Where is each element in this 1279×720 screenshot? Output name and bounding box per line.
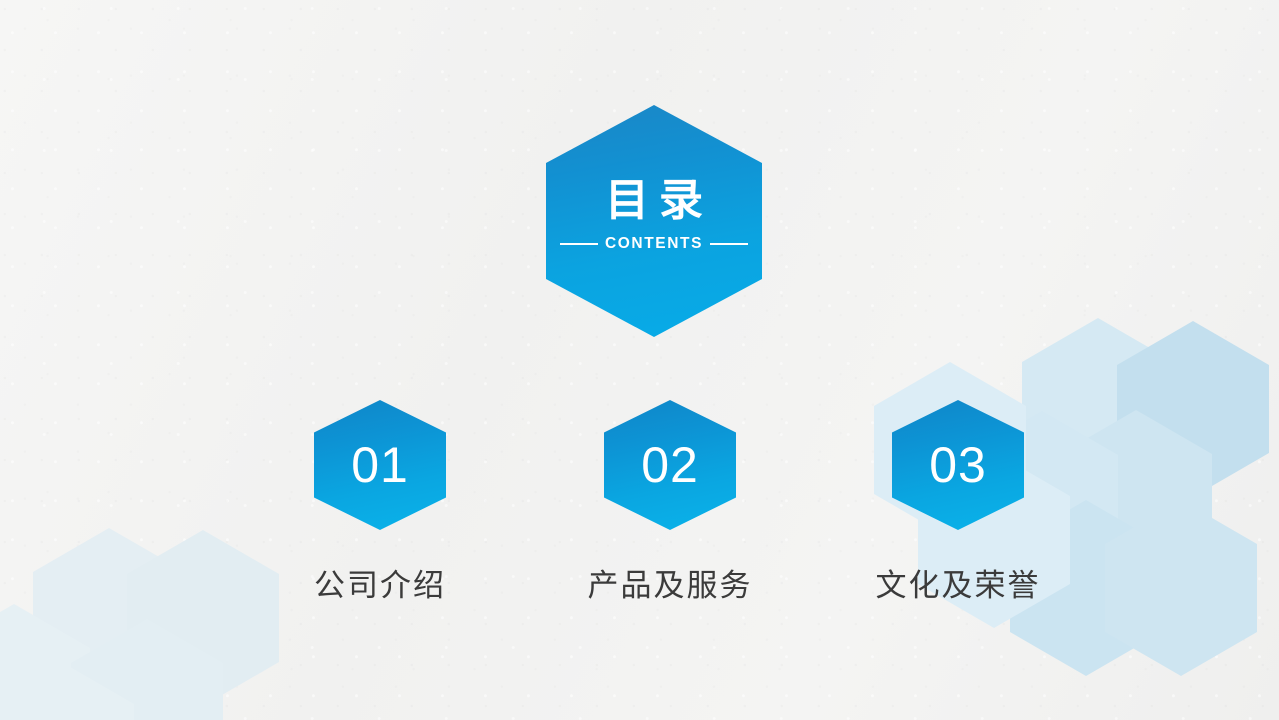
agenda-item-hexagon-01[interactable]: 01 — [314, 400, 446, 530]
page-subtitle: CONTENTS — [605, 235, 703, 253]
agenda-item-number-03: 03 — [929, 440, 987, 490]
contents-hexagon-inner: 目录 CONTENTS — [560, 177, 748, 254]
agenda-item-label-01[interactable]: 公司介绍 — [230, 560, 530, 605]
rule-right-icon — [710, 243, 748, 245]
agenda-item-hexagon-02[interactable]: 02 — [604, 400, 736, 530]
contents-hexagon[interactable]: 目录 CONTENTS — [546, 105, 762, 337]
slide-canvas: 目录 CONTENTS 01 公司介绍 02 产品及服务 03 文化及荣誉 — [0, 0, 1279, 720]
agenda-item-number-02: 02 — [641, 440, 699, 490]
agenda-item-number-01: 01 — [351, 440, 409, 490]
contents-subtitle-row: CONTENTS — [560, 235, 748, 253]
agenda-item-label-03[interactable]: 文化及荣誉 — [808, 560, 1108, 605]
page-title: 目录 — [595, 177, 713, 225]
rule-left-icon — [560, 243, 598, 245]
agenda-item-label-02[interactable]: 产品及服务 — [520, 560, 820, 605]
